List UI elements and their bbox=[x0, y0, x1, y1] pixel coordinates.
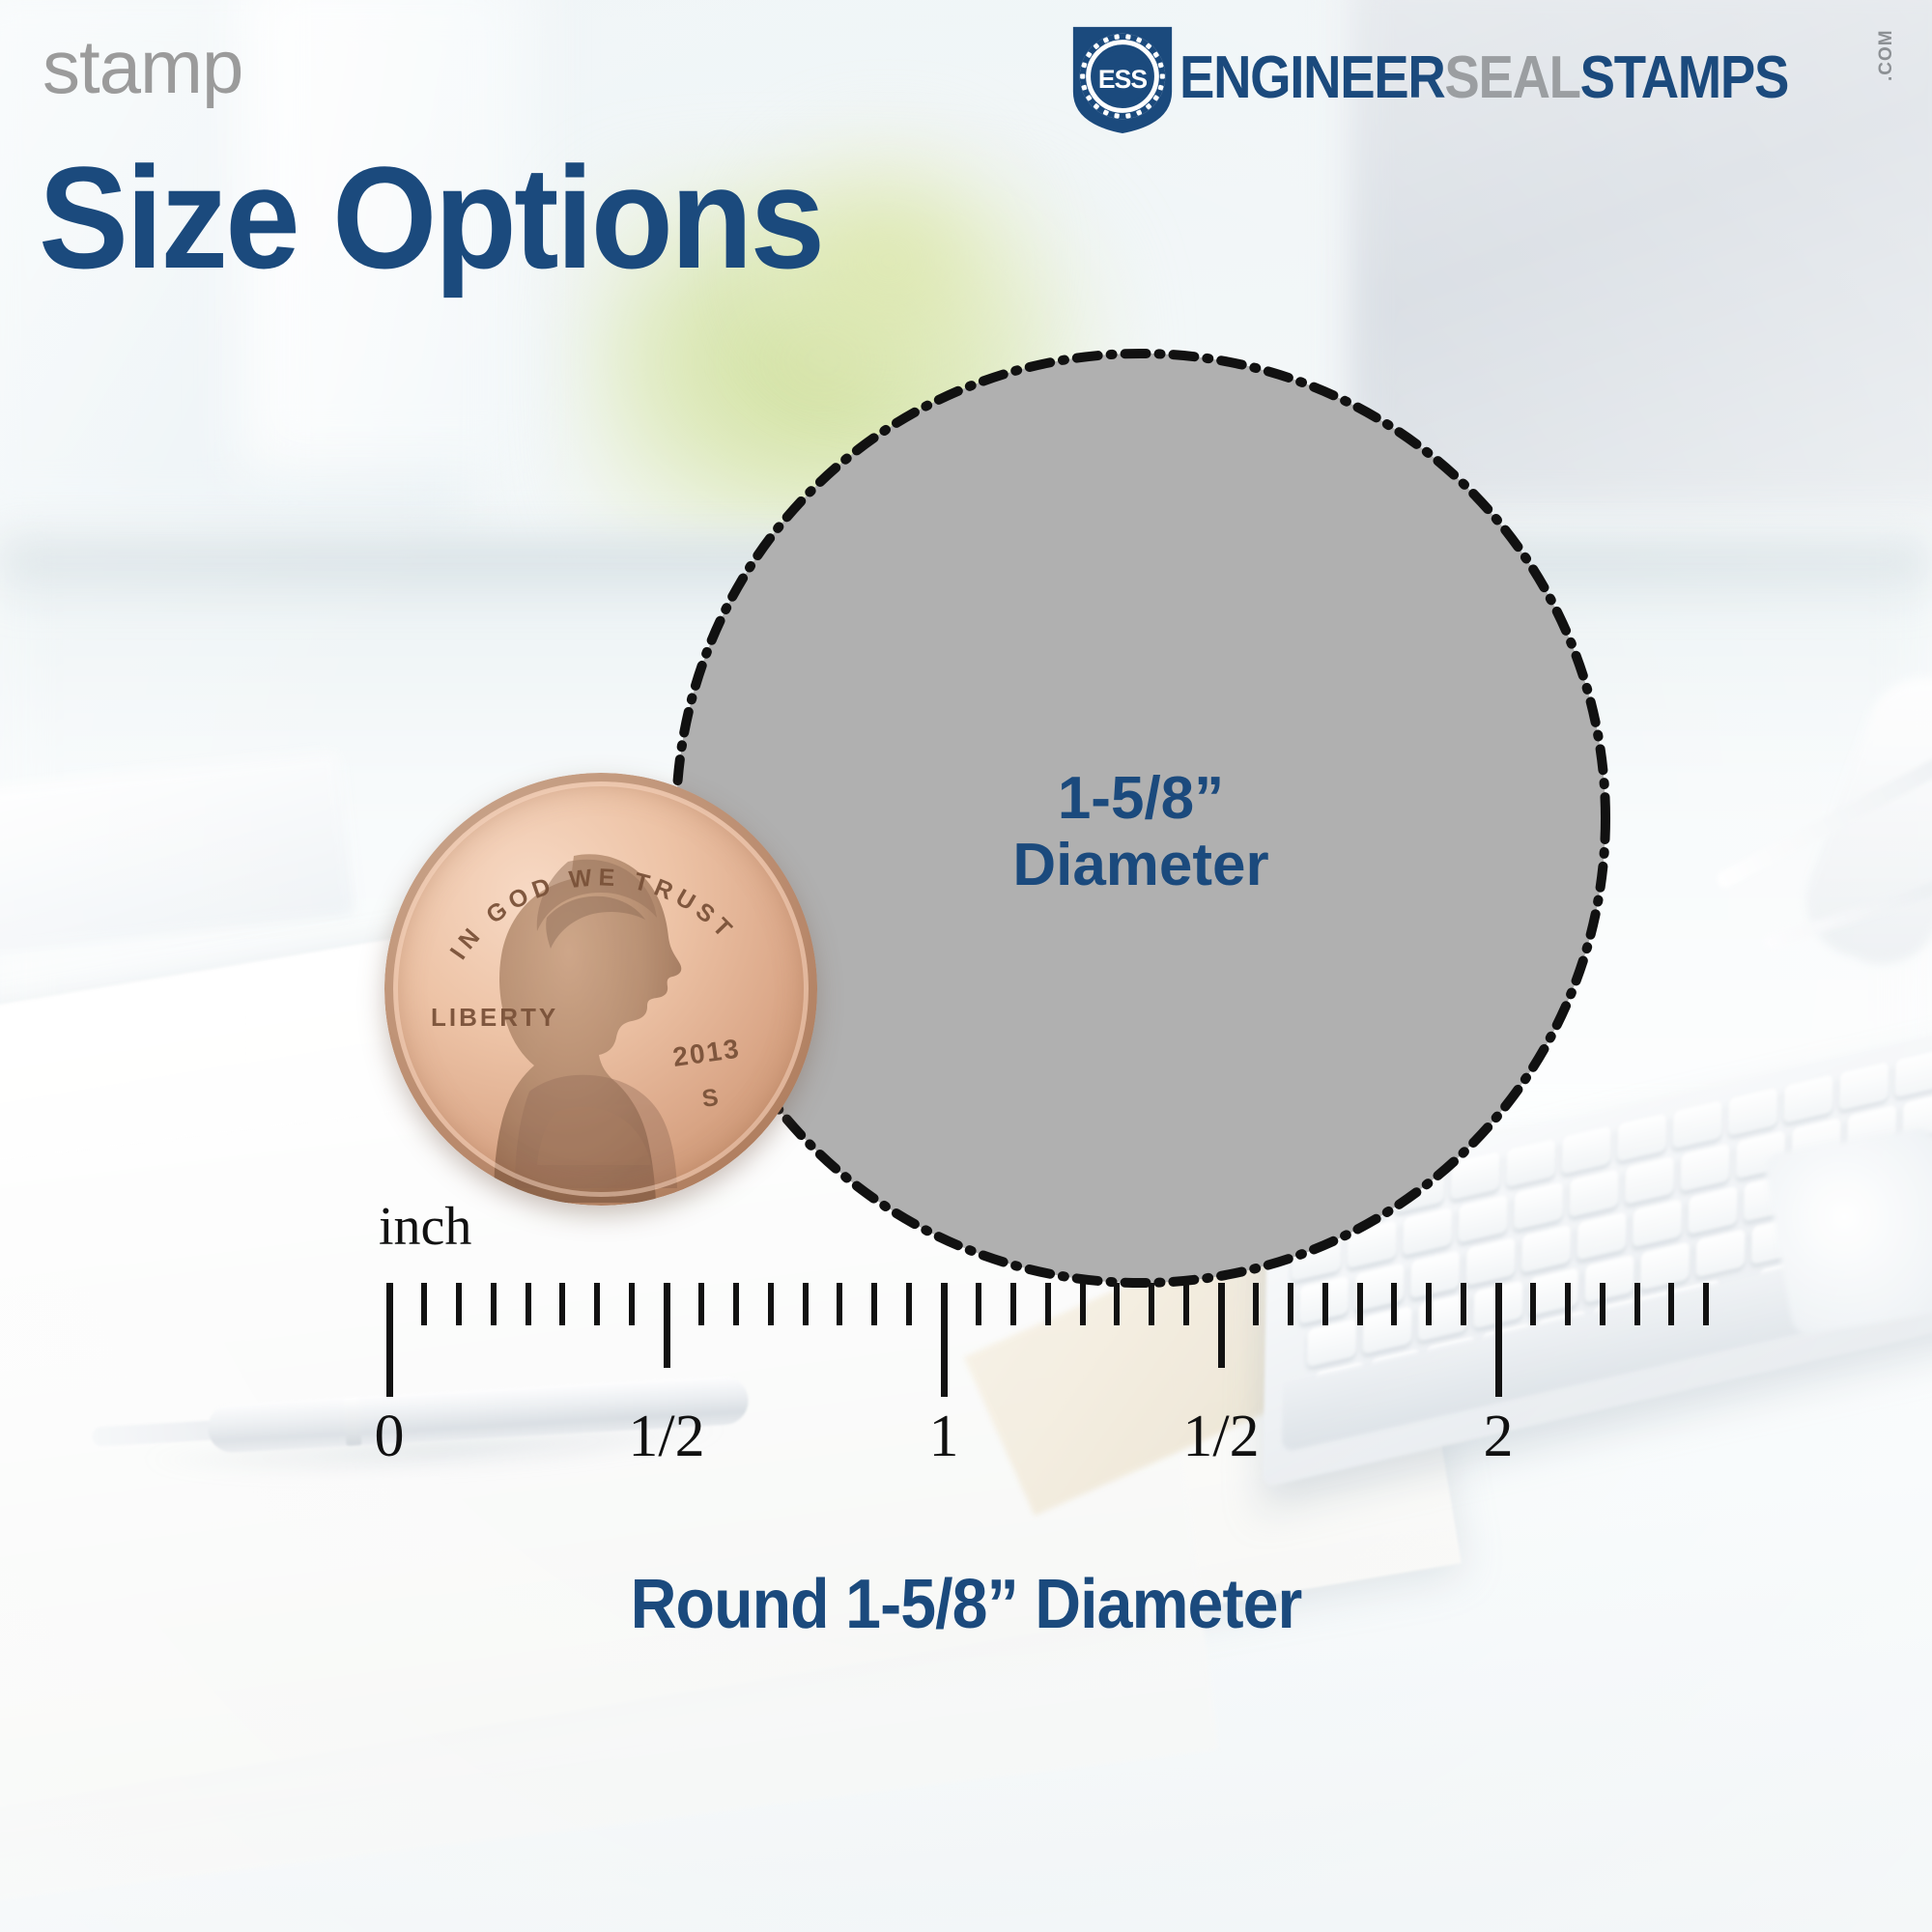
ruler-tick-minor bbox=[1253, 1283, 1259, 1325]
ruler-tick-minor bbox=[1010, 1283, 1016, 1325]
ruler-tick-minor bbox=[559, 1283, 565, 1325]
ruler-tick-minor bbox=[1391, 1283, 1397, 1325]
ruler-label: 1 bbox=[929, 1403, 959, 1471]
ruler-tick-minor bbox=[629, 1283, 635, 1325]
ruler-tick-minor bbox=[768, 1283, 774, 1325]
ruler-tick-minor bbox=[1668, 1283, 1674, 1325]
ruler-unit-label: inch bbox=[379, 1196, 471, 1258]
ruler-tick-minor bbox=[906, 1283, 912, 1325]
ruler-tick-minor bbox=[1357, 1283, 1363, 1325]
ruler-tick-major bbox=[1495, 1283, 1502, 1397]
ruler-tick-minor bbox=[1461, 1283, 1466, 1325]
ruler-tick-minor bbox=[1600, 1283, 1605, 1325]
ruler-label: 1/2 bbox=[628, 1403, 704, 1471]
ruler-tick-minor bbox=[1288, 1283, 1293, 1325]
ruler-tick-minor bbox=[491, 1283, 497, 1325]
ruler-tick-major bbox=[386, 1283, 393, 1397]
svg-text:ESS: ESS bbox=[1098, 65, 1147, 94]
ruler-tick-minor bbox=[976, 1283, 981, 1325]
ruler-tick-minor bbox=[1426, 1283, 1432, 1325]
ruler-tick-minor bbox=[1565, 1283, 1571, 1325]
ruler-tick-minor bbox=[1080, 1283, 1086, 1325]
ruler-label: 0 bbox=[375, 1403, 405, 1471]
ruler-tick-minor bbox=[1530, 1283, 1536, 1325]
ruler-label: 1/2 bbox=[1182, 1403, 1259, 1471]
brand-word-mark: stamp bbox=[43, 29, 242, 104]
ruler-tick-minor bbox=[733, 1283, 739, 1325]
inch-ruler: inch 01/211/22 bbox=[0, 1256, 1932, 1546]
ess-shield-gear-icon: ESS bbox=[1065, 21, 1179, 135]
penny-rim bbox=[384, 773, 817, 1206]
ruler-tick-minor bbox=[1183, 1283, 1189, 1325]
ruler-tick-minor bbox=[698, 1283, 704, 1325]
logo-text-dotcom: .COM bbox=[1876, 21, 1897, 81]
page-title: Size Options bbox=[39, 145, 822, 290]
ruler-tick-minor bbox=[421, 1283, 427, 1325]
ruler-tick-minor bbox=[1322, 1283, 1328, 1325]
size-caption: Round 1-5/8” Diameter bbox=[77, 1565, 1855, 1644]
logo-text-stamps: STAMPS bbox=[1580, 48, 1788, 108]
ruler-tick-minor bbox=[1149, 1283, 1154, 1325]
ruler-tick-minor bbox=[594, 1283, 600, 1325]
ruler-tick-half bbox=[1218, 1283, 1225, 1368]
ess-logo[interactable]: ESS ENGINEERSEALSTAMPS .COM bbox=[1065, 21, 1897, 135]
ruler-tick-minor bbox=[1114, 1283, 1120, 1325]
logo-text-engineer: ENGINEER bbox=[1179, 48, 1444, 108]
size-options-graphic: stamp Size Options ESS ENGINEERSEALSTAMP… bbox=[0, 0, 1932, 1932]
ruler-tick-minor bbox=[526, 1283, 531, 1325]
ess-logo-wordmark: ENGINEERSEALSTAMPS bbox=[1179, 48, 1788, 108]
ruler-tick-minor bbox=[871, 1283, 877, 1325]
ruler-tick-minor bbox=[1045, 1283, 1051, 1325]
us-penny-coin: IN GOD WE TRUST LIBERTY 2013 S bbox=[384, 773, 817, 1206]
ruler-tick-minor bbox=[456, 1283, 462, 1325]
ruler-tick-minor bbox=[1703, 1283, 1709, 1325]
ruler-label: 2 bbox=[1484, 1403, 1514, 1471]
ruler-tick-minor bbox=[837, 1283, 842, 1325]
ruler-tick-half bbox=[664, 1283, 670, 1368]
ruler-tick-minor bbox=[1634, 1283, 1640, 1325]
logo-text-seal: SEAL bbox=[1444, 48, 1579, 108]
ruler-tick-major bbox=[941, 1283, 948, 1397]
ruler-tick-minor bbox=[803, 1283, 809, 1325]
